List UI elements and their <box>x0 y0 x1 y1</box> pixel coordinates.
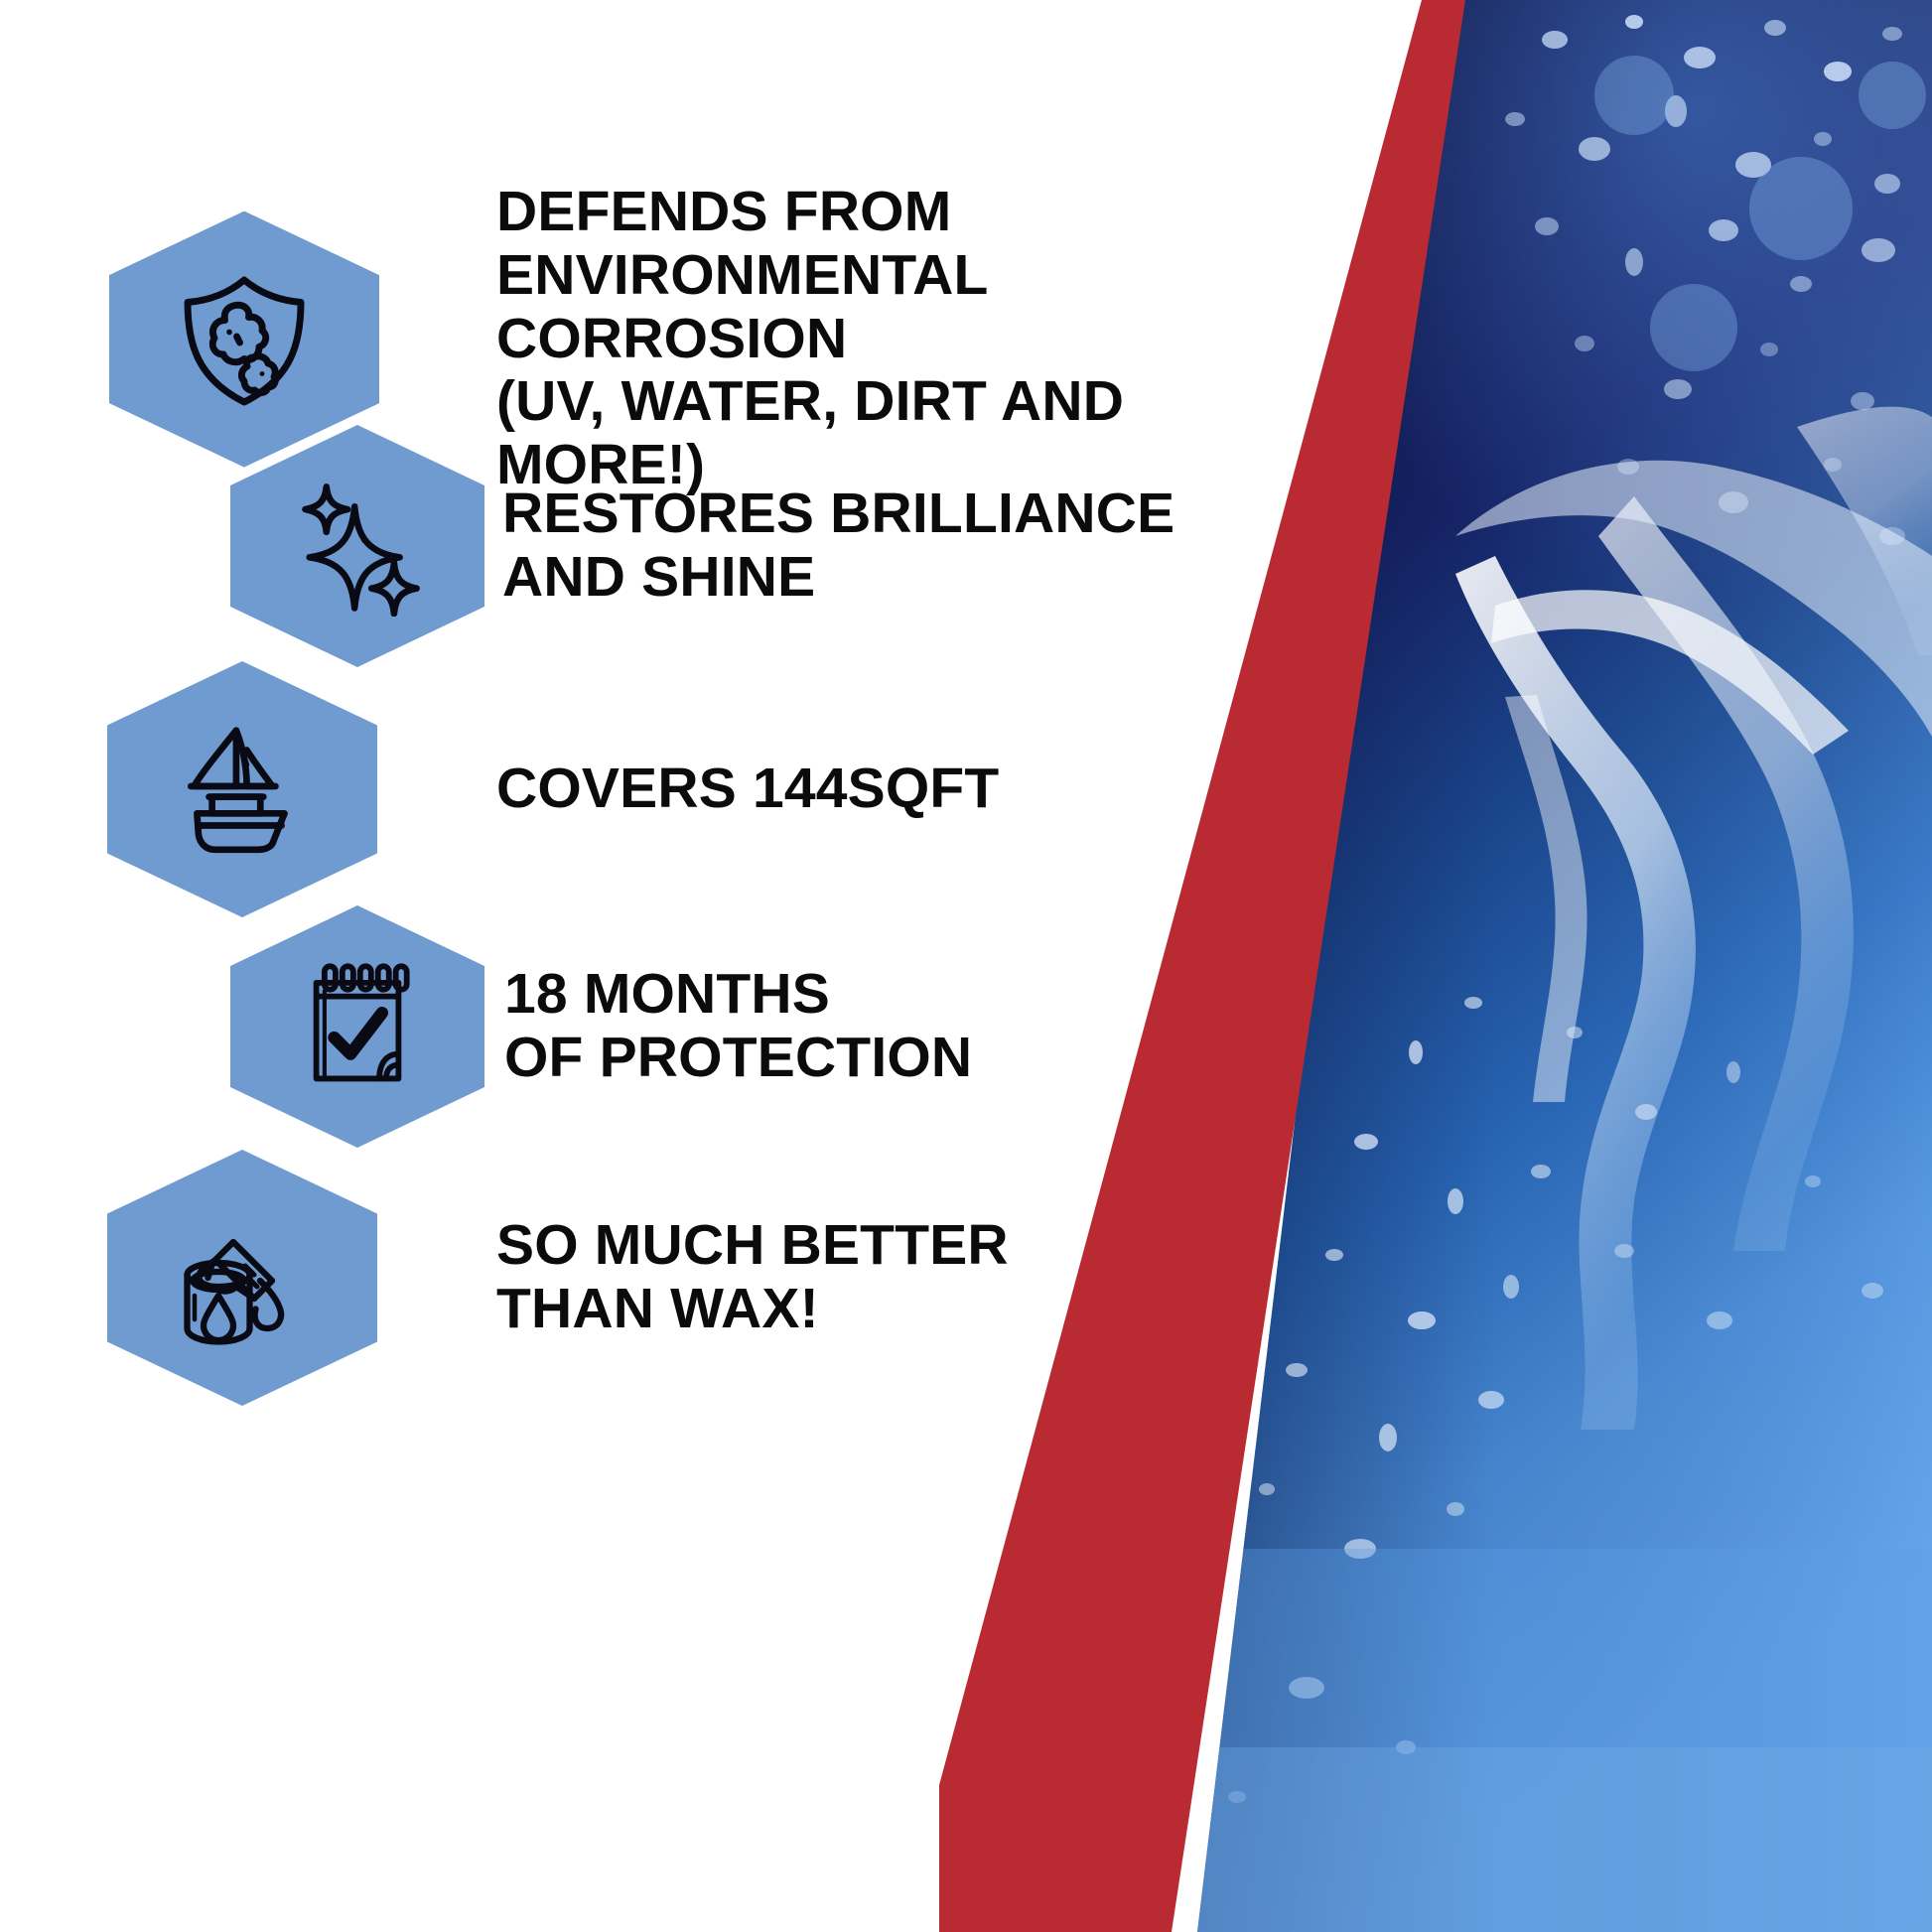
feature-row-covers: COVERS 144SQFT <box>107 661 999 917</box>
infographic-page: DEFENDS FROM ENVIRONMENTAL CORROSION (UV… <box>0 0 1932 1932</box>
feature-row-restores: RESTORES BRILLIANCE AND SHINE <box>230 425 1174 667</box>
feature-list: DEFENDS FROM ENVIRONMENTAL CORROSION (UV… <box>0 0 1191 1932</box>
hexagon-badge-sparkle <box>230 425 484 667</box>
calendar-check-icon <box>289 958 426 1095</box>
sailboat-icon <box>167 714 318 865</box>
feature-text-restores: RESTORES BRILLIANCE AND SHINE <box>502 483 1174 610</box>
feature-text-covers: COVERS 144SQFT <box>496 758 999 821</box>
feature-text-months: 18 MONTHS OF PROTECTION <box>504 963 972 1090</box>
paint-can-brush-icon <box>168 1203 317 1352</box>
feature-text-better-than-wax: SO MUCH BETTER THAN WAX! <box>496 1214 1009 1341</box>
hexagon-badge-boat <box>107 661 377 917</box>
feature-row-better-than-wax: SO MUCH BETTER THAN WAX! <box>107 1150 1009 1406</box>
shield-dirt-icon <box>170 265 319 414</box>
water-photo <box>1138 0 1932 1932</box>
hexagon-badge-calendar <box>230 905 484 1148</box>
feature-row-months: 18 MONTHS OF PROTECTION <box>230 905 972 1148</box>
foam-streaks <box>1455 407 1932 1430</box>
hexagon-badge-paint <box>107 1150 377 1406</box>
sparkle-shine-icon <box>287 476 428 617</box>
